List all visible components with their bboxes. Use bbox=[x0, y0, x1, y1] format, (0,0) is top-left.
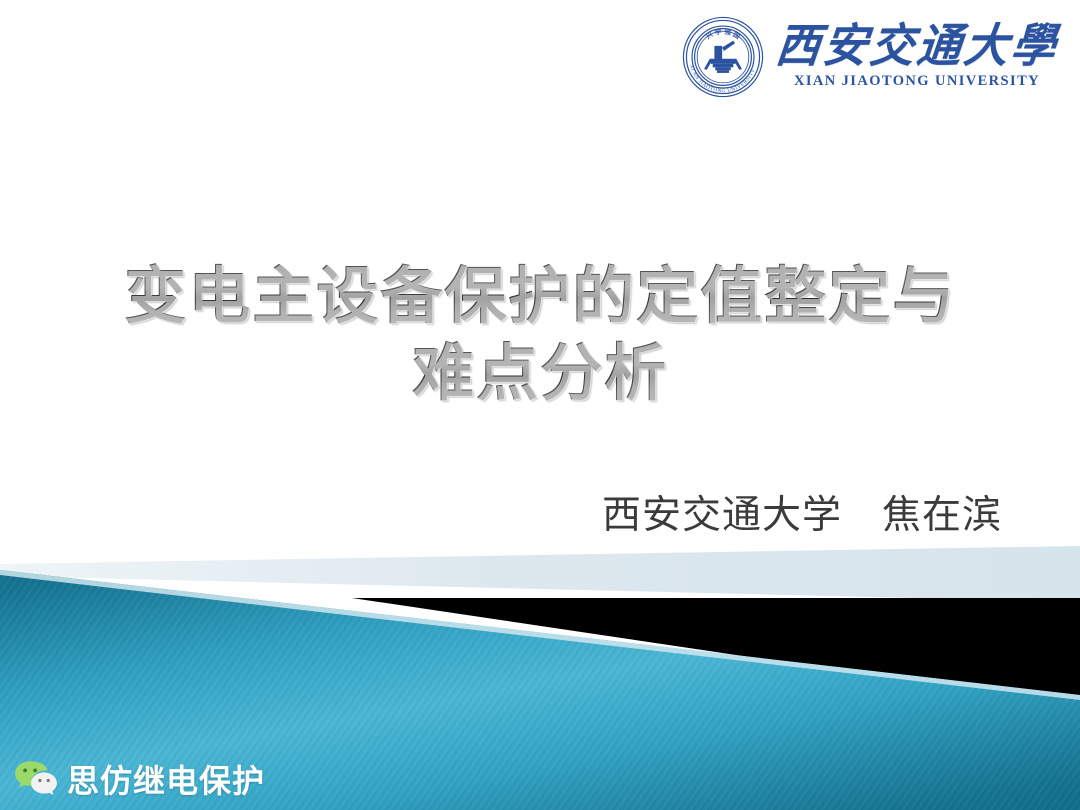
wechat-icon bbox=[14, 759, 58, 799]
university-logo: 兴 学 强 国 XI'AN JIAOTONG UNIVERSITY 西安交通大學… bbox=[680, 14, 1058, 100]
university-logo-wordmark: 西安交通大學 XIAN JIAOTONG UNIVERSITY bbox=[776, 25, 1058, 89]
slide-subtitle: 西安交通大学 焦在滨 bbox=[602, 484, 1002, 540]
wechat-watermark: 思仿继电保护 bbox=[14, 756, 265, 802]
presentation-slide: 兴 学 强 国 XI'AN JIAOTONG UNIVERSITY 西安交通大學… bbox=[0, 0, 1080, 810]
slide-title: 变电主设备保护的定值整定与 难点分析 bbox=[0, 258, 1080, 412]
slide-title-line-2: 难点分析 bbox=[0, 335, 1080, 412]
affiliation-and-author: 西安交通大学 焦在滨 bbox=[602, 484, 1002, 540]
watermark-label: 思仿继电保护 bbox=[67, 756, 265, 802]
slide-title-line-1: 变电主设备保护的定值整定与 bbox=[0, 258, 1080, 335]
university-name-english: XIAN JIAOTONG UNIVERSITY bbox=[794, 74, 1040, 89]
university-name-chinese: 西安交通大學 bbox=[774, 24, 1061, 70]
university-seal-emblem: 兴 学 强 国 XI'AN JIAOTONG UNIVERSITY bbox=[680, 14, 766, 100]
